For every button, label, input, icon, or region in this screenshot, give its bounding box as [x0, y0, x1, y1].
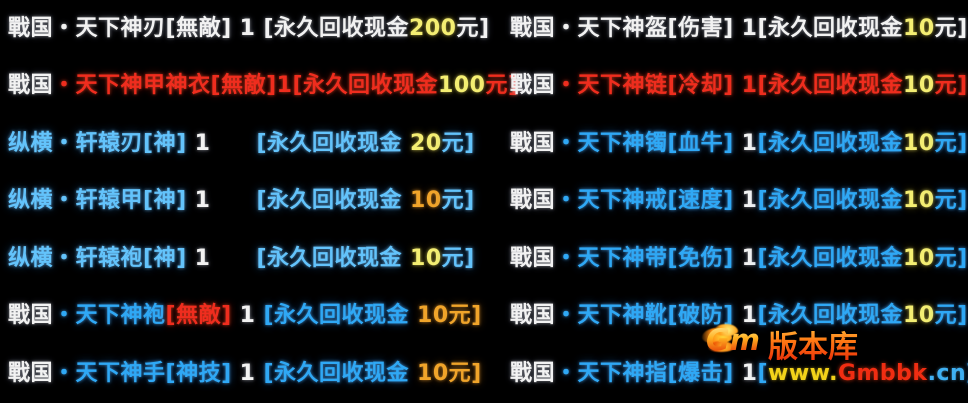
site-url-prefix: www. [768, 361, 838, 386]
item-name-prefix: 戰国 [8, 73, 53, 98]
price-value: 10 [903, 131, 935, 156]
item-name-body: ・天下神带[免伤] [555, 246, 734, 271]
item-qty: 1 [742, 361, 758, 386]
item-qty: 1 [195, 131, 211, 156]
price-open: [ [757, 361, 768, 386]
item-line: 戰国・天下神甲神衣[無敵]1[永久回收现金100元] [0, 75, 519, 97]
item-line: 戰国・天下神袍[無敵]1[永久回收现金10元] [0, 305, 482, 327]
item-qty: 1 [742, 303, 758, 328]
item-row-right-7[interactable]: 戰国・天下神指[爆击]1[www.Gmbbk.cn] [484, 345, 968, 403]
item-name-prefix: 戰国 [510, 246, 555, 271]
price-unit: 元] [935, 16, 968, 41]
site-url-name: Gmbbk [838, 361, 928, 386]
item-qty: 1 [742, 246, 758, 271]
price-open: [永久回收现金 [256, 188, 402, 213]
item-name-prefix: 纵横 [8, 188, 53, 213]
price-open: [永久回收现金 [292, 73, 438, 98]
price-value: 10 [410, 246, 442, 271]
item-name-body: ・天下神靴[破防] [555, 303, 734, 328]
item-name-body: ・轩辕刃[神] [53, 131, 187, 156]
price-open: [永久回收现金 [757, 303, 903, 328]
price-unit: 元] [449, 361, 482, 386]
item-name-body: ・天下神刃[無敵] [53, 16, 232, 41]
price-unit: 元] [935, 188, 968, 213]
item-name-body: ・天下神镯[血牛] [555, 131, 734, 156]
item-row-right-6[interactable]: 戰国・天下神靴[破防]1[永久回收现金10元] [484, 287, 968, 345]
price-value: 10 [417, 303, 449, 328]
item-name-body: ・天下神戒[速度] [555, 188, 734, 213]
item-row-right-2[interactable]: 戰国・天下神链[冷却]1[永久回收现金10元] [484, 57, 968, 115]
item-line: 戰国・天下神手[神技]1[永久回收现金10元] [0, 363, 482, 385]
item-name-body: ・天下神袍 [53, 303, 166, 328]
item-line: 戰国・天下神镯[血牛]1[永久回收现金10元] [484, 133, 968, 155]
item-name-prefix: 戰国 [8, 303, 53, 328]
price-open: [永久回收现金 [263, 361, 409, 386]
item-line: 纵横・轩辕刃[神]1[永久回收现金20元] [0, 133, 475, 155]
item-qty: 1 [742, 73, 758, 98]
item-name-prefix: 纵横 [8, 246, 53, 271]
price-open: [永久回收现金 [263, 303, 409, 328]
price-open: [永久回收现金 [757, 16, 903, 41]
item-name-body: ・天下神盔[伤害] [555, 16, 734, 41]
price-unit: 元] [935, 246, 968, 271]
item-name-prefix: 戰国 [8, 361, 53, 386]
price-value: 10 [903, 303, 935, 328]
item-name-body: ・天下神链[冷却] [555, 73, 734, 98]
item-row-left-2[interactable]: 戰国・天下神甲神衣[無敵]1[永久回收现金100元] [0, 57, 484, 115]
item-row-right-3[interactable]: 戰国・天下神镯[血牛]1[永久回收现金10元] [484, 115, 968, 173]
item-qty: 1 [742, 16, 758, 41]
item-row-right-4[interactable]: 戰国・天下神戒[速度]1[永久回收现金10元] [484, 172, 968, 230]
item-name-suffix: [無敵] [166, 303, 232, 328]
price-unit: 元] [449, 303, 482, 328]
item-name-prefix: 戰国 [8, 16, 53, 41]
item-line: 戰国・天下神刃[無敵]1[永久回收现金200元] [0, 18, 490, 40]
item-row-right-5[interactable]: 戰国・天下神带[免伤]1[永久回收现金10元] [484, 230, 968, 288]
item-line: 纵横・轩辕甲[神]1[永久回收现金10元] [0, 190, 475, 212]
item-row-left-5[interactable]: 纵横・轩辕袍[神]1[永久回收现金10元] [0, 230, 484, 288]
price-unit: 元] [935, 303, 968, 328]
item-name-prefix: 纵横 [8, 131, 53, 156]
price-value: 20 [410, 131, 442, 156]
price-value: 10 [903, 16, 935, 41]
price-open: [永久回收现金 [757, 246, 903, 271]
item-line: 戰国・天下神靴[破防]1[永久回收现金10元] [484, 305, 968, 327]
item-qty: 1 [240, 16, 256, 41]
item-qty: 1 [277, 73, 293, 98]
item-line: 戰国・天下神盔[伤害]1[永久回收现金10元] [484, 18, 968, 40]
item-name-prefix: 戰国 [510, 303, 555, 328]
item-line: 戰国・天下神指[爆击]1[www.Gmbbk.cn] [484, 363, 968, 385]
item-line: 戰国・天下神链[冷却]1[永久回收现金10元] [484, 75, 968, 97]
item-qty: 1 [195, 188, 211, 213]
item-name-body: ・天下神指[爆击] [555, 361, 734, 386]
price-open: [永久回收现金 [757, 131, 903, 156]
price-unit: 元] [442, 188, 475, 213]
price-value: 10 [903, 246, 935, 271]
price-unit: 元] [935, 131, 968, 156]
item-line: 戰国・天下神戒[速度]1[永久回收现金10元] [484, 190, 968, 212]
item-name-body: ・轩辕袍[神] [53, 246, 187, 271]
price-open: [永久回收现金 [256, 131, 402, 156]
item-qty: 1 [742, 188, 758, 213]
price-value: 10 [903, 188, 935, 213]
price-value: 10 [417, 361, 449, 386]
item-name-body: ・天下神甲神衣[無敵] [53, 73, 277, 98]
item-name-prefix: 戰国 [510, 188, 555, 213]
item-qty: 1 [742, 131, 758, 156]
price-open: [永久回收现金 [263, 16, 409, 41]
item-row-right-1[interactable]: 戰国・天下神盔[伤害]1[永久回收现金10元] [484, 0, 968, 58]
price-open: [永久回收现金 [757, 188, 903, 213]
item-line: 纵横・轩辕袍[神]1[永久回收现金10元] [0, 248, 475, 270]
item-qty: 1 [195, 246, 211, 271]
price-unit: 元] [935, 73, 968, 98]
price-open: [永久回收现金 [757, 73, 903, 98]
price-value: 100 [438, 73, 485, 98]
item-row-left-6[interactable]: 戰国・天下神袍[無敵]1[永久回收现金10元] [0, 287, 484, 345]
price-open: [永久回收现金 [256, 246, 402, 271]
item-name-prefix: 戰国 [510, 16, 555, 41]
price-value: 10 [903, 73, 935, 98]
price-value: 200 [409, 16, 456, 41]
item-name-prefix: 戰国 [510, 361, 555, 386]
price-value: 10 [410, 188, 442, 213]
item-line: 戰国・天下神带[免伤]1[永久回收现金10元] [484, 248, 968, 270]
site-url-tld: .cn [928, 361, 967, 386]
item-qty: 1 [240, 361, 256, 386]
item-price-board: 戰国・天下神刃[無敵]1[永久回收现金200元] 戰国・天下神甲神衣[無敵]1[… [0, 0, 968, 402]
item-qty: 1 [240, 303, 256, 328]
item-row-left-1[interactable]: 戰国・天下神刃[無敵]1[永久回收现金200元] [0, 0, 484, 58]
item-name-prefix: 戰国 [510, 131, 555, 156]
price-unit: 元] [442, 246, 475, 271]
item-name-prefix: 戰国 [510, 73, 555, 98]
item-row-left-7[interactable]: 戰国・天下神手[神技]1[永久回收现金10元] [0, 345, 484, 403]
price-unit: 元] [442, 131, 475, 156]
item-name-body: ・轩辕甲[神] [53, 188, 187, 213]
item-row-left-4[interactable]: 纵横・轩辕甲[神]1[永久回收现金10元] [0, 172, 484, 230]
item-name-body: ・天下神手[神技] [53, 361, 232, 386]
item-row-left-3[interactable]: 纵横・轩辕刃[神]1[永久回收现金20元] [0, 115, 484, 173]
